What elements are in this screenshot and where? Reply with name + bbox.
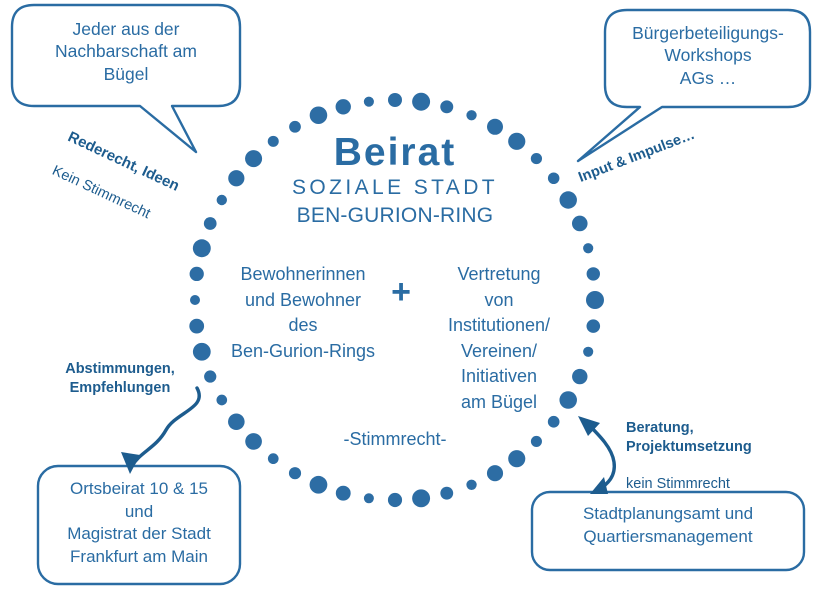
page-title: Beirat <box>245 128 545 178</box>
annotation-abstimmungen: Abstimmungen, Empfehlungen <box>45 360 195 398</box>
ring-dot <box>216 395 227 406</box>
ring-dot <box>440 100 453 113</box>
ring-dot <box>412 93 430 111</box>
ring-dot <box>310 106 328 124</box>
ring-dot <box>310 476 328 494</box>
ring-dot <box>572 216 588 232</box>
subtitle-soziale-stadt: SOZIALE STADT <box>245 175 545 202</box>
arrow-to-ortsbeirat <box>121 388 199 474</box>
ring-dot <box>364 97 374 107</box>
box-text-ortsbeirat: Ortsbeirat 10 & 15 und Magistrat der Sta… <box>44 478 234 568</box>
center-column-institutions: Vertretung von Institutionen/ Vereinen/ … <box>420 262 578 415</box>
ring-dot <box>388 493 402 507</box>
ring-dot <box>190 295 200 305</box>
ring-dot <box>466 110 476 120</box>
center-footnote-stimmrecht: -Stimmrecht- <box>300 428 490 451</box>
ring-dot <box>364 493 374 503</box>
ring-dot <box>245 433 262 450</box>
ring-dot <box>586 291 604 309</box>
annotation-beratung: Beratung, Projektumsetzung kein Stimmrec… <box>626 400 806 513</box>
ring-dot <box>204 370 216 382</box>
ring-dot <box>531 436 542 447</box>
center-column-residents: Bewohnerinnen und Bewohner des Ben-Gurio… <box>212 262 394 364</box>
ring-dot <box>508 450 525 467</box>
plus-icon: + <box>386 277 416 307</box>
ring-dot <box>193 343 211 361</box>
ring-dot <box>559 191 576 208</box>
bubble-text-top-right: Bürgerbeteiligungs- Workshops AGs … <box>612 22 804 89</box>
ring-dot <box>487 465 503 481</box>
arrow-stadtplanungsamt <box>578 416 614 494</box>
ring-dot <box>336 99 351 114</box>
ring-dot <box>289 467 301 479</box>
subtitle-ben-gurion-ring: BEN-GURION-RING <box>245 203 545 230</box>
ring-dot <box>587 319 601 333</box>
ring-dot <box>189 319 204 334</box>
ring-dot <box>587 267 600 280</box>
ring-dot <box>228 413 245 430</box>
ring-dot <box>548 416 560 428</box>
annotation-beratung-bold: Beratung, Projektumsetzung <box>626 419 806 457</box>
ring-dot <box>336 486 351 501</box>
annotation-beratung-regular: kein Stimmrecht <box>626 475 806 494</box>
ring-dot <box>548 172 560 184</box>
ring-dot <box>412 489 430 507</box>
ring-dot <box>583 243 593 253</box>
diagram-canvas: Jeder aus der Nachbarschaft am Bügel Bür… <box>0 0 820 600</box>
bubble-text-top-left: Jeder aus der Nachbarschaft am Bügel <box>22 18 230 85</box>
ring-dot <box>440 487 453 500</box>
ring-dot <box>268 453 279 464</box>
ring-dot <box>583 347 593 357</box>
ring-dot <box>466 480 476 490</box>
ring-dot <box>388 93 402 107</box>
